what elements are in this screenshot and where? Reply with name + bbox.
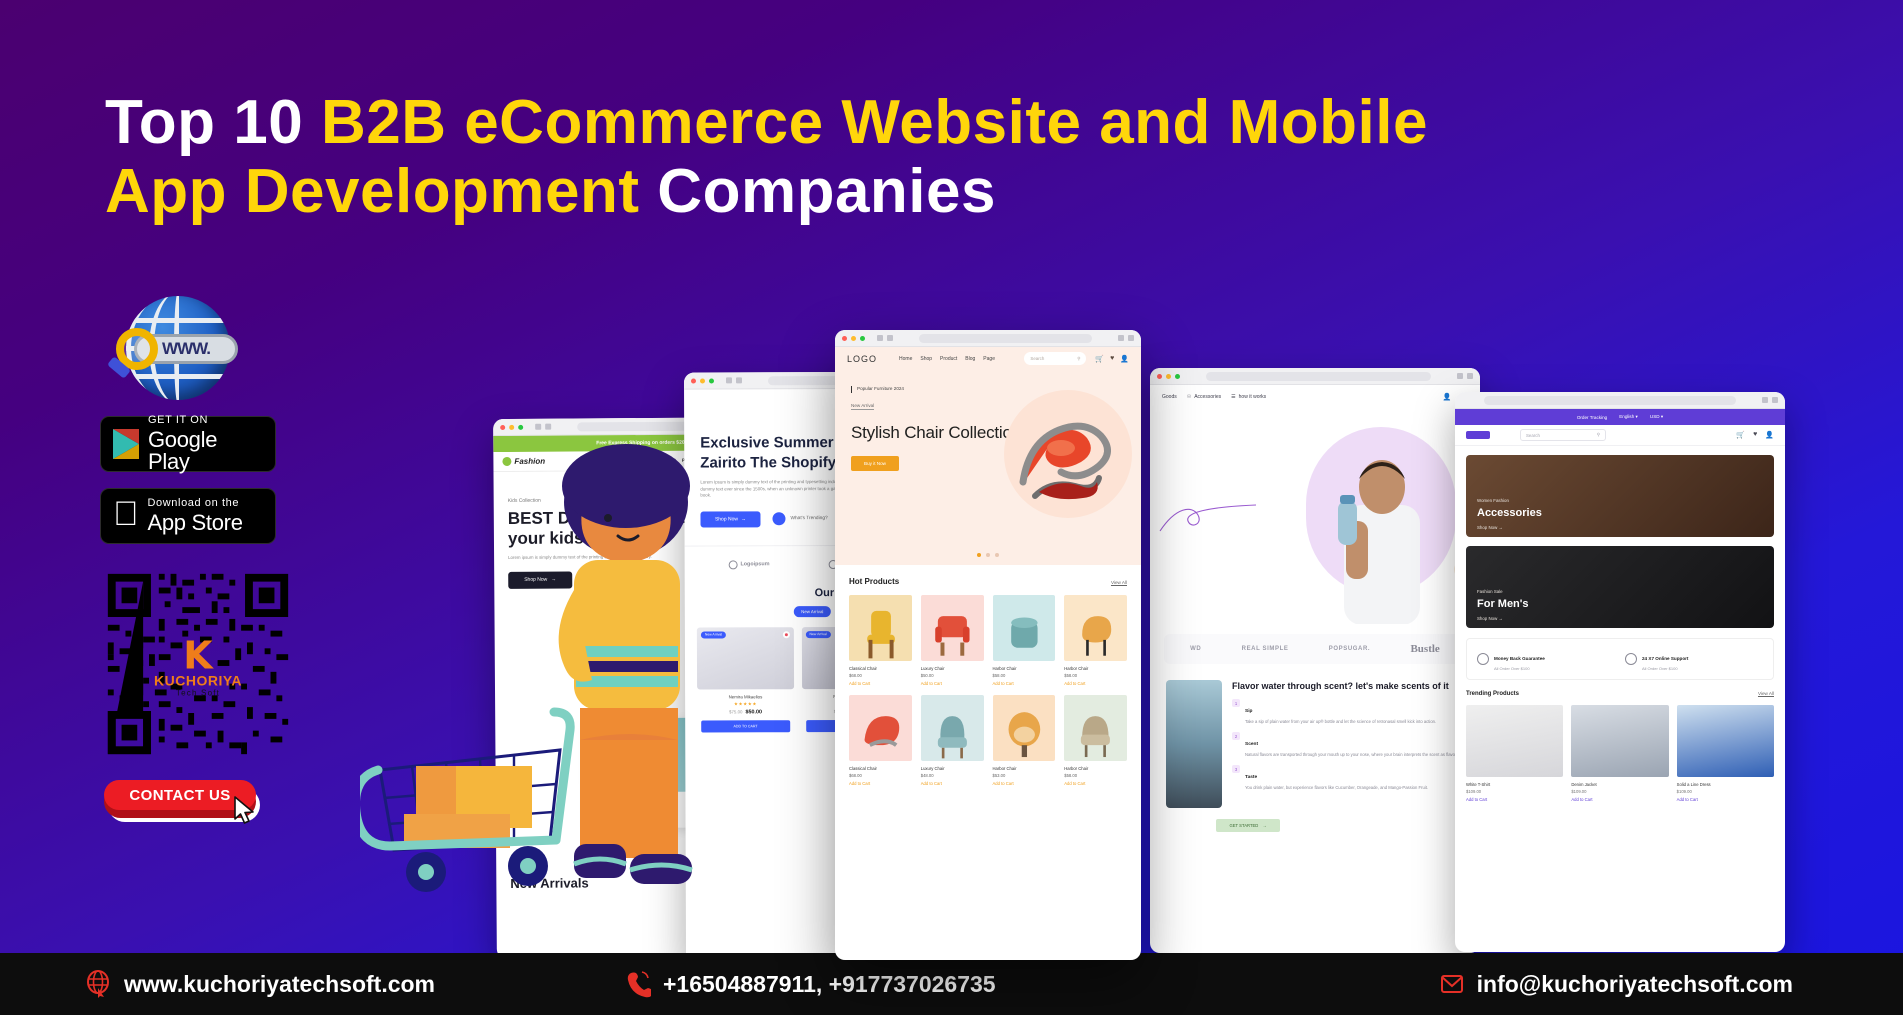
mockup-fashion-store[interactable]: Order Tracking English ▾ USD ▾ Search ⚲ …: [1455, 392, 1785, 952]
phone-icon: [625, 970, 651, 998]
marketing-banner: Top 10 B2B eCommerce Website and Mobile …: [0, 0, 1903, 1015]
trending-label: What's Trending?: [790, 516, 827, 521]
search-input[interactable]: Search ⚲: [1520, 429, 1606, 441]
product-card[interactable]: Luxury Chair $50.00 Add to Cart: [921, 595, 984, 686]
step-item: 2 ScentNatural flavors are transported t…: [1232, 732, 1464, 758]
app-store-badge[interactable]:  Download on the App Store: [100, 488, 276, 544]
product-tag: New Arrival: [806, 631, 831, 638]
promo-heading: Accessories: [1477, 507, 1542, 519]
nav-item-goods[interactable]: Goods: [1162, 394, 1177, 400]
add-to-cart-link[interactable]: Add to Cart: [921, 781, 984, 786]
headline-highlight-1: B2B eCommerce Website and Mobile: [321, 88, 1428, 157]
step-desc: You drink plain water, but experience fl…: [1245, 785, 1428, 792]
add-to-cart-link[interactable]: Add to Cart: [1064, 781, 1127, 786]
promo-kicker: Women Fashion: [1477, 498, 1509, 503]
nav-item-home[interactable]: Home: [899, 356, 912, 362]
search-placeholder: Search: [1526, 433, 1540, 438]
step-item: 1 SipTake a sip of plain water from your…: [1232, 699, 1464, 725]
flavor-image: [1166, 680, 1222, 808]
browser-chrome: [1150, 368, 1480, 385]
product-price: $68.00: [849, 773, 912, 778]
get-started-label: GET STARTED: [1229, 823, 1258, 828]
add-to-cart-link[interactable]: Add to Cart: [1677, 797, 1774, 802]
section-title: Hot Products: [849, 577, 899, 586]
partner-logo: Logoipsum: [728, 560, 769, 569]
press-logos: WD REAL SIMPLE POPSUGAR. Bustle: [1164, 634, 1466, 664]
step-number: 1: [1232, 699, 1240, 707]
footer-email[interactable]: info@kuchoriyatechsoft.com: [1439, 970, 1793, 998]
mail-icon: [1439, 970, 1465, 998]
press-logo-popsugar: POPSUGAR.: [1329, 646, 1370, 652]
section-title: Trending Products: [1466, 691, 1519, 697]
product-image: [921, 695, 984, 761]
flavor-section: Flavor water through scent? let's make s…: [1150, 664, 1480, 808]
buy-it-now-button[interactable]: Buy it Now: [851, 456, 899, 471]
address-bar[interactable]: [1484, 396, 1736, 405]
www-globe-icon: WWW.: [108, 296, 244, 400]
google-play-badge[interactable]: GET IT ON Google Play: [100, 416, 276, 472]
headline-top10: Top 10: [105, 88, 321, 157]
filter-new-arrival[interactable]: New Arrival: [794, 606, 830, 617]
product-card[interactable]: Harbor Chair $58.00 Add to Cart: [1064, 595, 1127, 686]
press-logo-wd: WD: [1190, 646, 1201, 652]
add-to-cart-link[interactable]: Add to Cart: [921, 681, 984, 686]
product-card[interactable]: Harbor Chair $58.00 Add to Cart: [1064, 695, 1127, 786]
account-icon[interactable]: 👤: [1765, 431, 1774, 439]
step-title: Taste: [1245, 775, 1257, 780]
search-placeholder: Search: [1030, 356, 1044, 361]
qr-brand-sub: Tech Soft: [143, 689, 253, 698]
nav-item-product[interactable]: Product: [940, 356, 957, 362]
product-price: $50.00: [921, 673, 984, 678]
wishlist-icon[interactable]: [783, 631, 790, 638]
footer-phone[interactable]: +16504887911, +917737026735: [625, 970, 996, 998]
product-name: Luxury Chair: [921, 666, 984, 671]
add-to-cart-link[interactable]: Add to Cart: [849, 681, 912, 686]
order-tracking-link[interactable]: Order Tracking: [1577, 415, 1607, 420]
product-grid: White T-Shirt $109.00 Add to Cart Denim …: [1455, 697, 1785, 802]
qr-brand-name: KUCHORIYA: [143, 673, 253, 689]
nav-item-accessories[interactable]: ☉ Accessories: [1187, 394, 1221, 400]
currency-selector[interactable]: USD ▾: [1650, 414, 1663, 420]
store-logo[interactable]: LOGO: [847, 354, 877, 364]
search-input[interactable]: Search ⚲: [1024, 352, 1086, 365]
promo-banner-accessories[interactable]: Women Fashion Accessories Shop Now →: [1466, 455, 1774, 537]
product-price: $109.00: [1466, 789, 1563, 794]
product-image: [849, 595, 912, 661]
mockup-furniture-store[interactable]: LOGO Home Shop Product Blog Page Search …: [835, 330, 1141, 960]
product-price: $53.00: [993, 773, 1056, 778]
step-item: 3 TasteYou drink plain water, but experi…: [1232, 765, 1464, 791]
product-card[interactable]: Harbor Chair $58.00 Add to Cart: [993, 595, 1056, 686]
shopper-illustration: [530, 440, 730, 900]
product-card[interactable]: Classical Chair $68.00 Add to Cart: [849, 695, 912, 786]
trending-header: Trending Products View All: [1455, 680, 1785, 697]
product-grid: Classical Chair $68.00 Add to Cart Luxur…: [835, 586, 1141, 786]
search-icon: ⚲: [1077, 356, 1080, 362]
account-icon[interactable]: 👤: [1120, 355, 1129, 363]
product-price: $58.00: [993, 673, 1056, 678]
address-bar[interactable]: [1206, 372, 1431, 381]
step-title: Sip: [1245, 709, 1252, 714]
cursor-arrow-icon: [232, 796, 258, 826]
carousel-dot-3[interactable]: [995, 553, 999, 557]
guarantee-sub: All Order Over $100: [1494, 666, 1545, 671]
wishlist-icon[interactable]: ♥: [1110, 355, 1114, 363]
headset-icon: [1625, 653, 1637, 665]
footer-email-label: info@kuchoriyatechsoft.com: [1477, 971, 1793, 998]
guarantee-title: Money Back Guarantee: [1494, 656, 1545, 661]
view-all-link[interactable]: View All: [1111, 580, 1127, 585]
promo-heading: For Men's: [1477, 598, 1529, 610]
product-image: [993, 695, 1056, 761]
product-image: [1466, 705, 1563, 777]
step-number: 2: [1232, 732, 1240, 740]
carousel-dot-2[interactable]: [986, 553, 990, 557]
hero-section: Popular Furniture 2024 New Arrival Styli…: [835, 370, 1141, 565]
guarantee-title: 24 X7 Online Support: [1642, 656, 1688, 661]
new-arrival-label: New Arrival: [851, 403, 874, 410]
product-card[interactable]: Denim Jacket $109.00 Add to Cart: [1571, 705, 1668, 802]
app-store-label: App Store: [148, 512, 243, 534]
nav-item-blog[interactable]: Blog: [965, 356, 975, 362]
product-name: Solid a Line Dress: [1677, 782, 1774, 787]
brand-mark-icon: [502, 457, 511, 466]
add-to-cart-link[interactable]: Add to Cart: [993, 781, 1056, 786]
product-image: [849, 695, 912, 761]
wishlist-icon[interactable]: ♥: [1753, 431, 1757, 439]
guarantee-sub: All Order Over $100: [1642, 666, 1688, 671]
product-price: $48.00: [921, 773, 984, 778]
add-to-cart-link[interactable]: Add to Cart: [1571, 797, 1668, 802]
chair-illustration: [1009, 404, 1127, 508]
magnifier-icon: [108, 328, 160, 380]
qr-center-logo: K KUCHORIYA Tech Soft: [143, 638, 253, 697]
product-name: Denim Jacket: [1571, 782, 1668, 787]
account-icon[interactable]: 👤: [1443, 393, 1452, 401]
product-image: [1677, 705, 1774, 777]
product-price: $68.00: [849, 673, 912, 678]
product-name: Classical Chair: [849, 666, 912, 671]
guarantees-bar: Money Back GuaranteeAll Order Over $100 …: [1466, 638, 1774, 680]
nav-item-shop[interactable]: Shop: [920, 356, 932, 362]
cart-icon[interactable]: 🛒: [1736, 431, 1745, 439]
site-nav: LOGO Home Shop Product Blog Page Search …: [835, 347, 1141, 370]
left-rail: WWW. GET IT ON Google Play  Download on…: [100, 296, 360, 810]
browser-chrome: [835, 330, 1141, 347]
shield-icon: [1477, 653, 1489, 665]
nav-item-page[interactable]: Page: [983, 356, 995, 362]
guarantee-item: Money Back GuaranteeAll Order Over $100: [1477, 647, 1615, 671]
play-icon: [772, 513, 785, 526]
product-card[interactable]: White T-Shirt $109.00 Add to Cart: [1466, 705, 1563, 802]
language-selector[interactable]: English ▾: [1619, 414, 1638, 420]
headline-companies: Companies: [657, 157, 996, 226]
contact-us-button-wrap: CONTACT US: [104, 780, 269, 810]
flavor-heading: Flavor water through scent? let's make s…: [1232, 680, 1464, 692]
cart-icon[interactable]: 🛒: [1095, 355, 1104, 363]
product-price: $109.00: [1677, 789, 1774, 794]
partner-logo-label: Logoipsum: [740, 562, 769, 568]
app-store-small-label: Download on the: [148, 498, 243, 509]
product-image: [1571, 705, 1668, 777]
promo-cta[interactable]: Shop Now →: [1477, 616, 1503, 621]
google-play-icon: [113, 429, 139, 459]
press-logo-bustle: Bustle: [1410, 643, 1439, 655]
product-card[interactable]: Luxury Chair $48.00 Add to Cart: [921, 695, 984, 786]
carousel-dot-1[interactable]: [977, 553, 981, 557]
qr-code[interactable]: K KUCHORIYA Tech Soft: [100, 566, 296, 762]
get-started-button[interactable]: GET STARTED→: [1216, 819, 1280, 832]
utility-bar: Order Tracking English ▾ USD ▾: [1455, 409, 1785, 425]
step-desc: Natural flavors are transported through …: [1245, 752, 1457, 759]
product-card[interactable]: Harbor Chair $53.00 Add to Cart: [993, 695, 1056, 786]
promo-kicker: Fashion Sale: [1477, 589, 1503, 594]
add-to-cart-link[interactable]: Add to Cart: [849, 781, 912, 786]
promo-banner-mens[interactable]: Fashion Sale For Men's Shop Now →: [1466, 546, 1774, 628]
headline-highlight-2: App Development: [105, 157, 657, 226]
product-card[interactable]: Classical Chair $68.00 Add to Cart: [849, 595, 912, 686]
add-to-cart-link[interactable]: Add to Cart: [1466, 797, 1563, 802]
product-name: Harbor Chair: [993, 666, 1056, 671]
add-to-cart-link[interactable]: Add to Cart: [993, 681, 1056, 686]
address-bar[interactable]: [919, 334, 1092, 343]
site-nav: Goods ☉ Accessories ☰ how it works 👤 🛒: [1150, 385, 1480, 409]
add-to-cart-link[interactable]: Add to Cart: [1064, 681, 1127, 686]
footer-website[interactable]: www.kuchoriyatechsoft.com: [86, 970, 435, 998]
model-photo: [1316, 443, 1444, 624]
product-name: Luxury Chair: [921, 766, 984, 771]
footer-phone-label: +16504887911, +917737026735: [663, 971, 996, 998]
headline-line-1: Top 10 B2B eCommerce Website and Mobile: [105, 88, 1805, 157]
product-image: [1064, 595, 1127, 661]
product-image: [1064, 695, 1127, 761]
product-price: $58.00: [1064, 673, 1127, 678]
page-title: Top 10 B2B eCommerce Website and Mobile …: [105, 88, 1805, 227]
step-desc: Take a sip of plain water from your air …: [1245, 719, 1436, 726]
footer-website-label: www.kuchoriyatechsoft.com: [124, 971, 435, 998]
google-play-label: Google Play: [148, 429, 263, 473]
product-name: Harbor Chair: [1064, 766, 1127, 771]
press-logo-real-simple: REAL SIMPLE: [1242, 646, 1289, 652]
kuchoriya-mark-icon: K: [143, 638, 253, 672]
product-name: Harbor Chair: [993, 766, 1056, 771]
swoosh-decoration-icon: [1158, 501, 1258, 537]
product-image: [993, 595, 1056, 661]
mockup-water-brand[interactable]: Goods ☉ Accessories ☰ how it works 👤 🛒: [1150, 368, 1480, 953]
headline-line-2: App Development Companies: [105, 157, 1805, 226]
product-image: [921, 595, 984, 661]
product-price: $58.00: [1064, 773, 1127, 778]
product-card[interactable]: Solid a Line Dress $109.00 Add to Cart: [1677, 705, 1774, 802]
product-name: White T-Shirt: [1466, 782, 1563, 787]
product-name: Harbor Chair: [1064, 666, 1127, 671]
step-number: 3: [1232, 765, 1240, 773]
footer-contact-bar: www.kuchoriyatechsoft.com +16504887911, …: [0, 953, 1903, 1015]
product-price: $50.00: [745, 709, 762, 715]
google-play-small-label: GET IT ON: [148, 415, 263, 426]
store-logo[interactable]: [1466, 431, 1490, 439]
trending-video-link[interactable]: What's Trending?: [772, 512, 827, 525]
product-old-price: $75.00: [729, 709, 742, 714]
promo-cta[interactable]: Shop Now →: [1477, 525, 1503, 530]
product-price: $109.00: [1571, 789, 1668, 794]
step-title: Scent: [1245, 742, 1258, 747]
site-nav: Search ⚲ 🛒 ♥ 👤: [1455, 425, 1785, 446]
browser-chrome: [1455, 392, 1785, 409]
product-name: Classical Chair: [849, 766, 912, 771]
guarantee-item: 24 X7 Online SupportAll Order Over $100: [1625, 647, 1763, 671]
nav-item-how-it-works[interactable]: ☰ how it works: [1231, 394, 1266, 400]
apple-icon: : [113, 497, 139, 531]
view-all-link[interactable]: View All: [1758, 691, 1774, 696]
hot-products-header: Hot Products View All: [835, 565, 1141, 586]
carousel-dots[interactable]: [977, 553, 999, 557]
search-icon: ⚲: [1597, 432, 1600, 438]
hero-section: ›: [1150, 409, 1480, 624]
globe-icon: [86, 970, 112, 998]
